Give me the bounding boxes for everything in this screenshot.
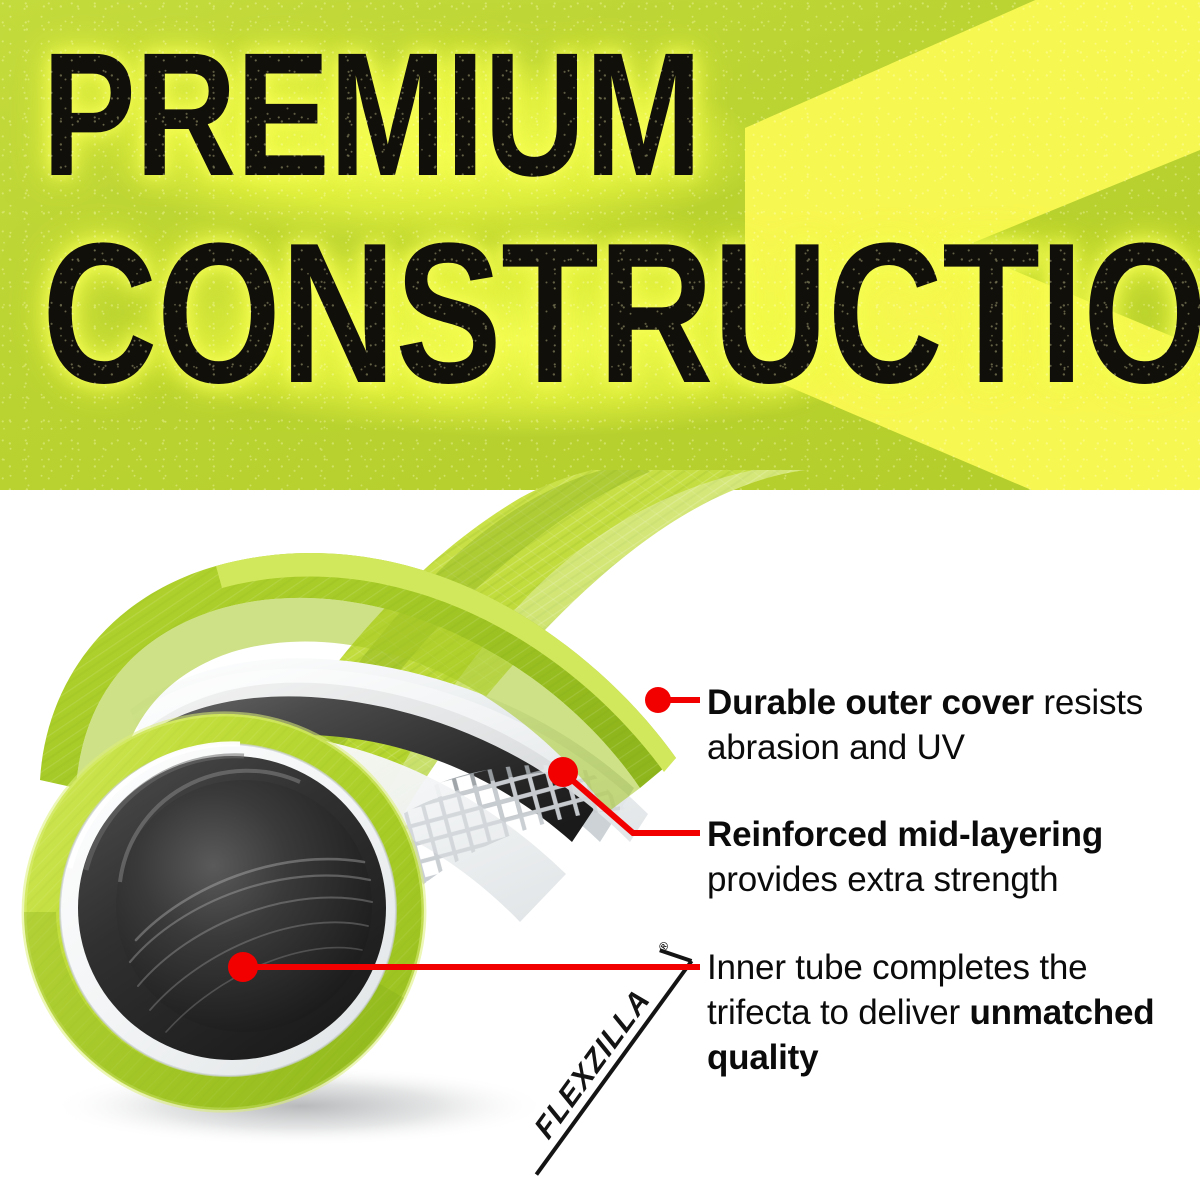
- callout-2-rest: provides extra strength: [707, 860, 1058, 899]
- header-banner: PREMIUM CONSTRUCTION: [0, 0, 1200, 490]
- callout-inner-tube: Inner tube completes the trifecta to del…: [707, 945, 1199, 1080]
- headline-line-1-text: PREMIUM: [42, 42, 701, 190]
- callout-1-bold: Durable outer cover: [707, 683, 1034, 722]
- brand-wordmark: FLEXZILLA ®: [506, 939, 692, 1175]
- infographic-canvas: PREMIUM CONSTRUCTION: [0, 0, 1200, 1200]
- callout-2-bold: Reinforced mid-layering: [707, 815, 1103, 854]
- headline-line-1: PREMIUM: [42, 42, 866, 190]
- brand-wordmark-text: FLEXZILLA: [529, 982, 657, 1145]
- headline-line-2: CONSTRUCTION: [42, 230, 1200, 398]
- headline-group: PREMIUM CONSTRUCTION: [0, 0, 1200, 490]
- callout-reinforced-mid-layering: Reinforced mid-layering provides extra s…: [707, 812, 1199, 902]
- headline-line-2-text: CONSTRUCTION: [42, 230, 1200, 398]
- callout-durable-outer-cover: Durable outer cover resists abrasion and…: [707, 680, 1197, 770]
